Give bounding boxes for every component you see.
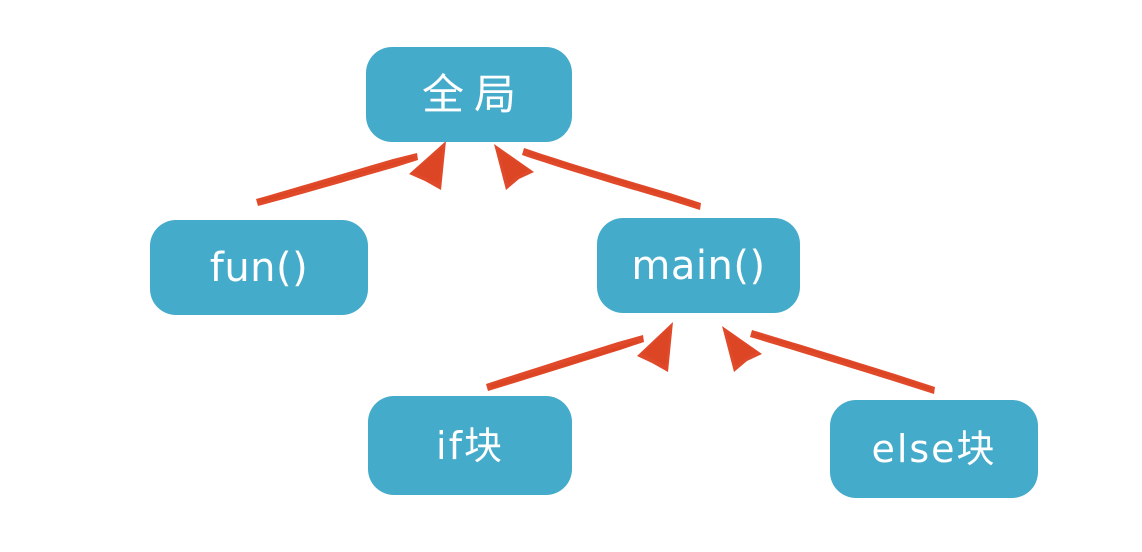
edge-main-to-global-shaft-texture: [528, 152, 697, 206]
edge-fun-to-global-head: [409, 141, 446, 190]
node-else-block-label: else块: [871, 430, 996, 468]
node-global-label: 全局: [412, 74, 526, 116]
edge-if-to-main-head: [637, 322, 673, 372]
edge-if-to-main: [486, 322, 673, 391]
edge-fun-to-global-head-shade: [414, 146, 443, 184]
edge-main-to-global-head-shade: [498, 149, 529, 184]
edge-else-to-main-head-shade: [726, 331, 757, 366]
node-if-block-label: if块: [436, 427, 504, 465]
edge-fun-to-global: [256, 141, 446, 206]
edge-if-to-main-shaft: [486, 335, 644, 391]
edge-else-to-main-head: [722, 326, 762, 372]
node-else-block[interactable]: else块: [830, 400, 1038, 498]
edge-fun-to-global-shaft: [256, 153, 418, 206]
edge-if-to-main-shaft-texture: [490, 340, 639, 388]
node-main-label: main(): [631, 246, 765, 286]
edge-else-to-main: [722, 326, 935, 394]
diagram-canvas: 全局 fun() main() if块 else块: [0, 0, 1142, 552]
edge-fun-to-global-shaft-texture: [260, 156, 414, 202]
node-if-block[interactable]: if块: [368, 396, 572, 495]
edge-main-to-global-shaft: [522, 148, 701, 210]
node-fun-label: fun(): [210, 248, 309, 288]
edge-if-to-main-head-shade: [642, 327, 670, 366]
edge-else-to-main-shaft-texture: [756, 334, 931, 390]
edge-else-to-main-shaft: [750, 330, 935, 394]
node-fun[interactable]: fun(): [150, 220, 368, 315]
node-main[interactable]: main(): [597, 218, 800, 313]
node-global[interactable]: 全局: [366, 47, 572, 142]
edge-main-to-global: [494, 144, 701, 210]
edge-main-to-global-head: [494, 144, 534, 190]
